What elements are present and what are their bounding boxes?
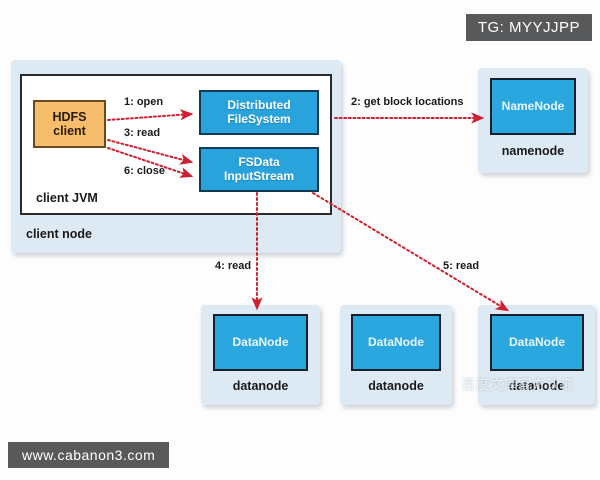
hdfs-client-label-line1: HDFS [52,110,86,124]
arrow-label-4-read: 4: read [215,260,251,272]
datanode-3-label: DataNode [509,336,565,350]
datanode-2-box[interactable]: DataNode [351,314,441,371]
fsdata-inputstream-label-line1: FSData [238,156,279,170]
hdfs-client-label-line2: client [53,124,86,138]
namenode-caption: namenode [478,144,588,158]
site-watermark-badge: www.cabanon3.com [8,442,169,468]
telegram-watermark-badge: TG: MYYJJPP [466,14,592,41]
arrow-label-5-read: 5: read [443,260,479,272]
distributed-filesystem-label-line1: Distributed [227,99,290,113]
arrow-label-1-open: 1: open [124,96,163,108]
namenode-label: NameNode [502,100,565,114]
client-node-caption: client node [26,227,600,241]
arrow-5-read [313,193,507,310]
fsdata-inputstream-label-line2: InputStream [224,170,294,184]
arrow-label-3-read: 3: read [124,127,160,139]
distributed-filesystem-label-line2: FileSystem [227,113,290,127]
datanode-1-caption: datanode [201,379,320,393]
datanode-1-box[interactable]: DataNode [213,314,308,371]
arrow-label-2-get-block-locations: 2: get block locations [351,96,463,108]
datanode-1-label: DataNode [232,336,288,350]
fsdata-inputstream-box[interactable]: FSData InputStream [199,147,319,192]
namenode-box[interactable]: NameNode [490,78,576,135]
distributed-filesystem-box[interactable]: Distributed FileSystem [199,90,319,135]
client-jvm-caption: client JVM [36,191,98,205]
arrow-label-6-close: 6: close [124,165,165,177]
datanode-3-caption: datanode [478,379,595,393]
datanode-2-caption: datanode [340,379,452,393]
hdfs-client-box[interactable]: HDFS client [33,100,106,148]
datanode-3-box[interactable]: DataNode [490,314,584,371]
hdfs-read-path-diagram: client node client JVM HDFS client Distr… [0,52,600,420]
datanode-2-label: DataNode [368,336,424,350]
